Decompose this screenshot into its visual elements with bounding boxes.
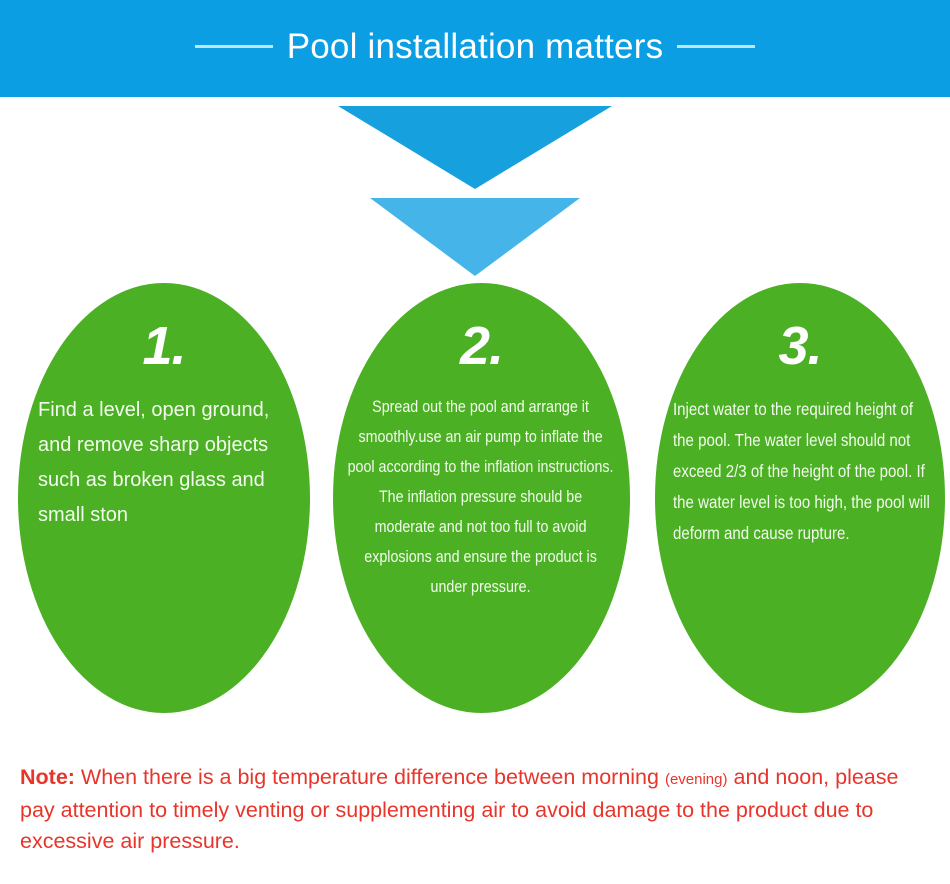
note-label: Note: — [20, 765, 75, 789]
note-block: Note: When there is a big temperature di… — [20, 762, 935, 857]
title-rule-left — [195, 45, 273, 48]
infographic-page: Pool installation matters 1. Find a leve… — [0, 0, 950, 884]
step-text-2: Spread out the pool and arrange it smoot… — [347, 392, 614, 602]
step-ellipse-1: 1. Find a level, open ground, and remove… — [18, 283, 310, 713]
step-number-1: 1. — [18, 319, 310, 373]
step-ellipse-3: 3. Inject water to the required height o… — [655, 283, 945, 713]
triangle-down-icon-large — [338, 106, 612, 189]
note-line-1: When there is a big temperature differen… — [81, 765, 659, 789]
step-number-3: 3. — [655, 319, 945, 373]
note-evening-paren: (evening) — [665, 771, 728, 788]
triangle-down-icon-small — [370, 198, 580, 276]
step-text-3: Inject water to the required height of t… — [673, 394, 931, 549]
title-wrap: Pool installation matters — [195, 29, 756, 64]
step-text-1: Find a level, open ground, and remove sh… — [38, 393, 288, 533]
step-ellipse-2: 2. Spread out the pool and arrange it sm… — [333, 283, 630, 713]
page-title: Pool installation matters — [287, 29, 664, 64]
title-rule-right — [677, 45, 755, 48]
step-number-2: 2. — [333, 319, 630, 373]
header-band: Pool installation matters — [0, 0, 950, 97]
